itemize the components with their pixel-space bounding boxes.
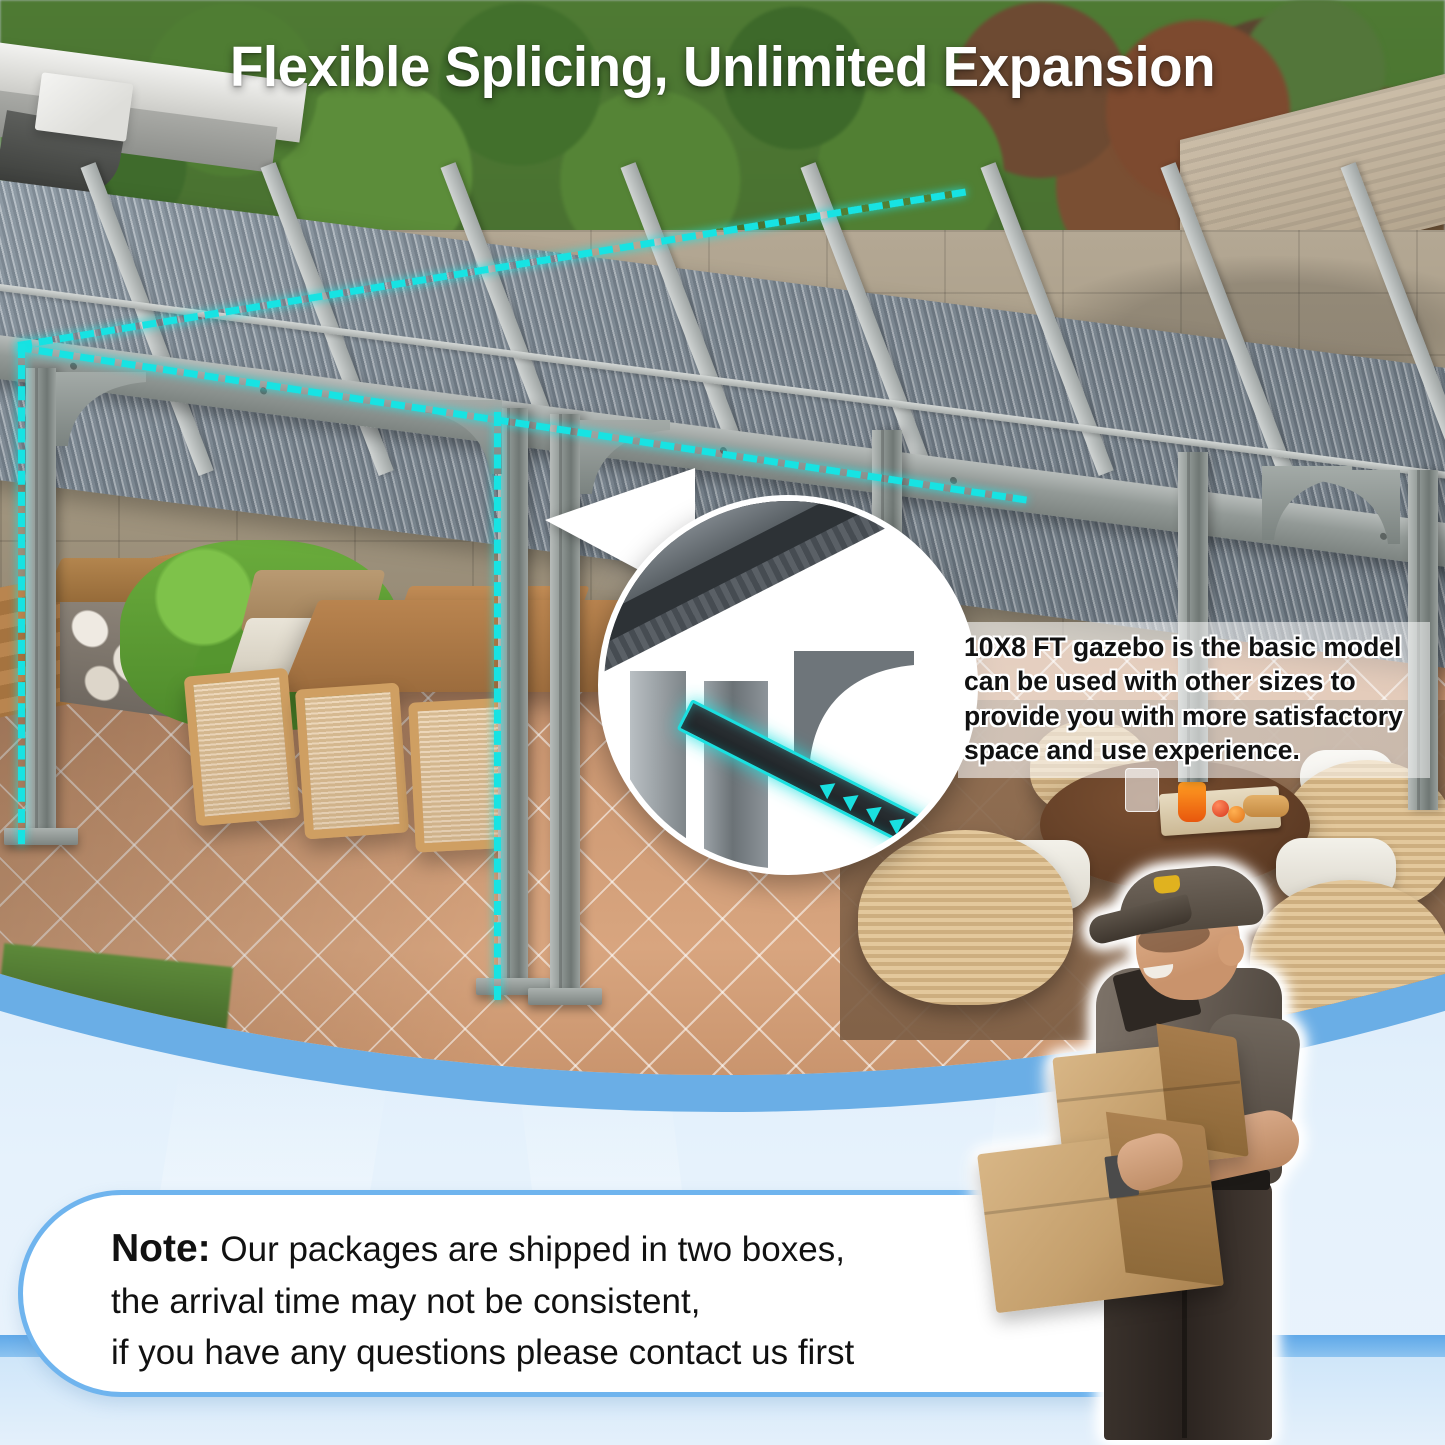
- gazebo-post: [498, 408, 528, 988]
- page-title: Flexible Splicing, Unlimited Expansion: [29, 34, 1416, 100]
- note-line-1-text: Our packages are shipped in two boxes,: [211, 1230, 845, 1269]
- callout-line-2: can be used with other sizes to: [964, 664, 1424, 698]
- dining-chair: [295, 683, 409, 840]
- fruit: [1212, 800, 1229, 817]
- magnifier-circle-icon[interactable]: [598, 495, 978, 875]
- callout-line-4: space and use experience.: [964, 733, 1424, 767]
- magnified-post: [630, 671, 686, 869]
- feature-callout-text: 10X8 FT gazebo is the basic model can be…: [958, 622, 1430, 778]
- juice-glass: [1178, 782, 1206, 822]
- dining-table: [281, 600, 648, 692]
- callout-line-3: provide you with more satisfactory: [964, 699, 1424, 733]
- direction-chevron-icon: [839, 789, 859, 811]
- delivery-person-icon: [975, 855, 1395, 1445]
- direction-chevron-icon: [816, 777, 836, 799]
- bread: [1243, 795, 1289, 817]
- note-lead-label: Note:: [111, 1227, 211, 1270]
- direction-chevron-icon: [862, 801, 882, 823]
- post-base-plate: [4, 828, 78, 845]
- marketing-image: 10X8 FT gazebo is the basic model can be…: [0, 0, 1445, 1445]
- module-outline-right-post: [494, 412, 501, 1000]
- post-base-plate: [528, 988, 602, 1005]
- magnified-bracket: [794, 651, 914, 761]
- courier-ear: [1218, 934, 1244, 966]
- module-outline-left-post: [18, 344, 25, 844]
- callout-line-1: 10X8 FT gazebo is the basic model: [964, 630, 1424, 664]
- gazebo-post: [26, 368, 56, 838]
- direction-chevron-icon: [885, 813, 905, 835]
- package-box-icon: [977, 1127, 1223, 1314]
- dining-chair: [184, 668, 301, 826]
